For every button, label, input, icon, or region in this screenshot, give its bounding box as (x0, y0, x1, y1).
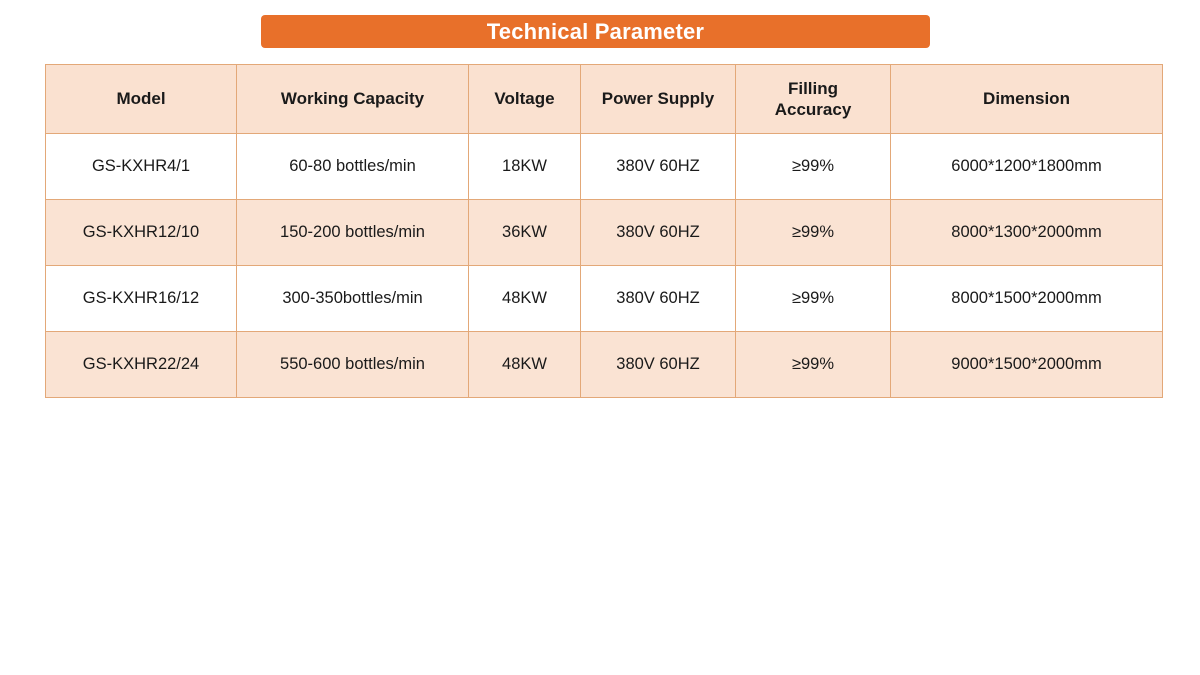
column-header-model-label: Model (116, 89, 165, 108)
column-header-dimension-label: Dimension (983, 89, 1070, 108)
cell-dimension: 8000*1300*2000mm (891, 200, 1163, 266)
table-row: GS-KXHR16/12 300-350bottles/min 48KW 380… (46, 266, 1163, 332)
cell-dimension: 6000*1200*1800mm (891, 134, 1163, 200)
cell-voltage: 36KW (469, 200, 581, 266)
table-row: GS-KXHR12/10 150-200 bottles/min 36KW 38… (46, 200, 1163, 266)
page-title: Technical Parameter (487, 21, 704, 43)
table-header-row: Model Working Capacity Voltage Power Sup… (46, 65, 1163, 134)
column-header-voltage: Voltage (469, 65, 581, 134)
column-header-model: Model (46, 65, 237, 134)
cell-voltage: 48KW (469, 266, 581, 332)
column-header-power-supply: Power Supply (581, 65, 736, 134)
column-header-dimension: Dimension (891, 65, 1163, 134)
cell-dimension: 8000*1500*2000mm (891, 266, 1163, 332)
cell-model: GS-KXHR12/10 (46, 200, 237, 266)
cell-working-capacity: 550-600 bottles/min (237, 332, 469, 398)
technical-parameter-table: Model Working Capacity Voltage Power Sup… (45, 64, 1163, 398)
cell-model: GS-KXHR4/1 (46, 134, 237, 200)
cell-power-supply: 380V 60HZ (581, 134, 736, 200)
table-row: GS-KXHR4/1 60-80 bottles/min 18KW 380V 6… (46, 134, 1163, 200)
cell-filling-accuracy: ≥99% (736, 134, 891, 200)
cell-model: GS-KXHR16/12 (46, 266, 237, 332)
cell-model: GS-KXHR22/24 (46, 332, 237, 398)
column-header-filling-accuracy: Filling Accuracy (736, 65, 891, 134)
cell-filling-accuracy: ≥99% (736, 266, 891, 332)
cell-working-capacity: 300-350bottles/min (237, 266, 469, 332)
table-row: GS-KXHR22/24 550-600 bottles/min 48KW 38… (46, 332, 1163, 398)
cell-voltage: 18KW (469, 134, 581, 200)
cell-filling-accuracy: ≥99% (736, 332, 891, 398)
cell-working-capacity: 60-80 bottles/min (237, 134, 469, 200)
technical-parameter-table-container: Model Working Capacity Voltage Power Sup… (45, 64, 1162, 398)
column-header-working-capacity-label: Working Capacity (281, 89, 424, 108)
cell-dimension: 9000*1500*2000mm (891, 332, 1163, 398)
column-header-filling-accuracy-label-line2: Accuracy (742, 99, 884, 120)
cell-working-capacity: 150-200 bottles/min (237, 200, 469, 266)
column-header-working-capacity: Working Capacity (237, 65, 469, 134)
column-header-filling-accuracy-label-line1: Filling (742, 78, 884, 99)
page-title-banner: Technical Parameter (261, 15, 930, 48)
cell-voltage: 48KW (469, 332, 581, 398)
cell-power-supply: 380V 60HZ (581, 200, 736, 266)
cell-power-supply: 380V 60HZ (581, 266, 736, 332)
cell-filling-accuracy: ≥99% (736, 200, 891, 266)
column-header-power-supply-label: Power Supply (602, 89, 714, 108)
cell-power-supply: 380V 60HZ (581, 332, 736, 398)
column-header-voltage-label: Voltage (494, 89, 554, 108)
